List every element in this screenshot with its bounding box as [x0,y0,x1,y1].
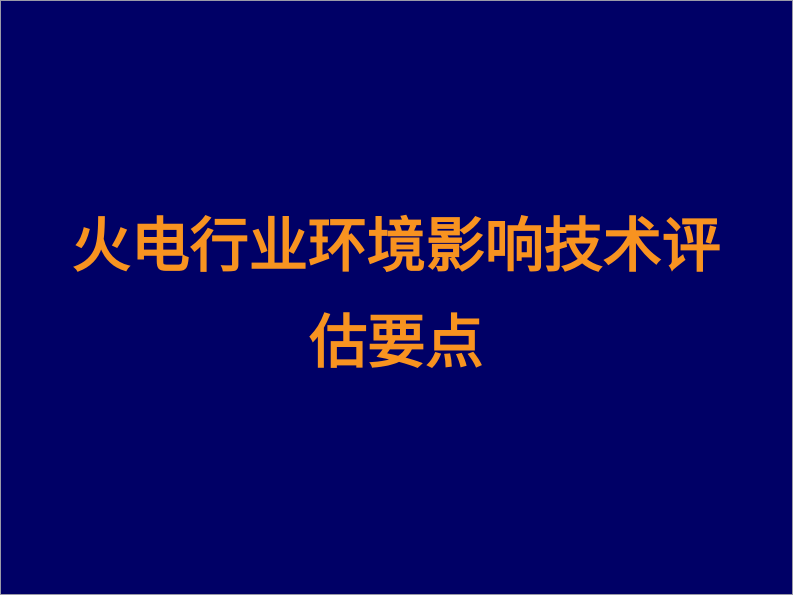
slide-title: 火电行业环境影响技术评 估要点 [1,197,792,391]
slide-title-line-2: 估要点 [1,294,792,391]
slide-title-line-1: 火电行业环境影响技术评 [1,197,792,294]
presentation-slide: 火电行业环境影响技术评 估要点 [0,0,793,595]
